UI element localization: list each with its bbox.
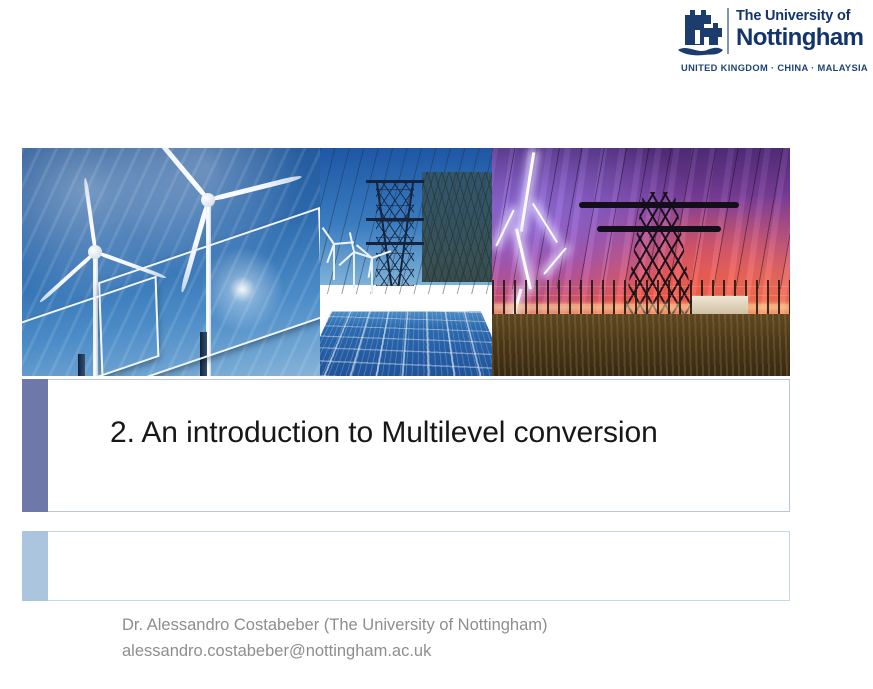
image-band [22, 148, 790, 376]
title-box: 2. An introduction to Multilevel convers… [22, 379, 790, 512]
title-accent-bar [22, 379, 48, 512]
logo-text-line1: The University of [736, 8, 863, 25]
subtitle-panel [48, 531, 790, 601]
tower-crossarm [597, 226, 722, 232]
page-title: 2. An introduction to Multilevel convers… [48, 416, 658, 476]
image-wind-turbines-and-solar-panels [22, 148, 320, 376]
foreground-grass [492, 314, 790, 376]
pylon-crossarm [366, 218, 424, 221]
turbine-mast [353, 252, 355, 288]
tower-crossarm [579, 202, 738, 208]
logo-wordmark: The University of Nottingham [736, 6, 863, 51]
pylon-crossarm [366, 242, 424, 245]
title-panel: 2. An introduction to Multilevel convers… [48, 379, 790, 512]
turbine-mast [333, 244, 335, 280]
turbine-hub [88, 245, 102, 259]
image-lightning-over-substation [492, 148, 790, 376]
footer-author: Dr. Alessandro Costabeber (The Universit… [122, 612, 742, 638]
subtitle-accent-bar [22, 531, 48, 601]
substation-structures [422, 172, 492, 282]
footer-email: alessandro.costabeber@nottingham.ac.uk [122, 638, 742, 664]
castle-tower-icon [676, 6, 724, 58]
substation-building [692, 296, 748, 316]
wind-turbine-distant [324, 234, 344, 280]
turbine-hub [201, 193, 215, 207]
solar-panel-field [320, 311, 492, 376]
subtitle-box [22, 531, 790, 601]
wind-turbine-distant [362, 248, 382, 294]
university-logo: The University of Nottingham UNITED KING… [676, 6, 868, 84]
footer: Dr. Alessandro Costabeber (The Universit… [122, 612, 742, 664]
logo-text-line2: Nottingham [736, 25, 863, 51]
logo-tagline: UNITED KINGDOM · CHINA · MALAYSIA [676, 63, 868, 73]
logo-divider [727, 8, 729, 54]
turbine-mast [371, 258, 373, 294]
logo-row: The University of Nottingham [676, 6, 868, 58]
page-subtitle [48, 532, 789, 542]
image-solar-farm-with-pylons [320, 148, 492, 376]
